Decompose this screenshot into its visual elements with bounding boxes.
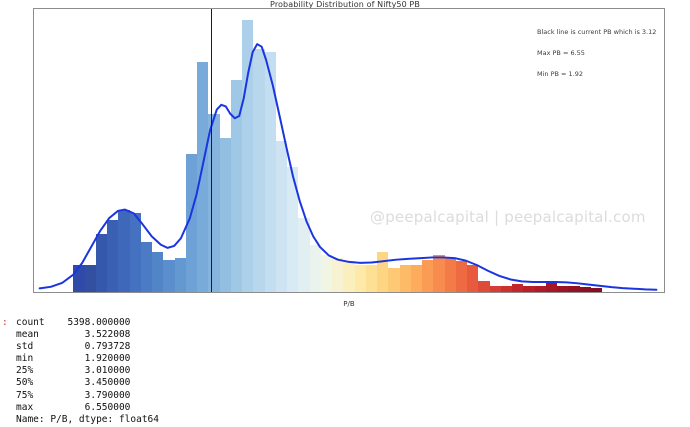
x-axis-label: P/B — [33, 300, 665, 308]
y-tick-mark — [33, 163, 34, 164]
watermark: @peepalcapital | peepalcapital.com — [370, 208, 646, 226]
describe-row: Name: P/B, dtype: float64 — [16, 414, 159, 426]
describe-output: : count 5398.000000mean 3.522008std 0.79… — [0, 317, 690, 427]
output-prompt: : — [2, 317, 8, 329]
y-tick-mark — [33, 227, 34, 228]
x-tick-mark — [534, 292, 535, 293]
matplotlib-figure: Probability Distribution of Nifty50 PB 0… — [0, 0, 690, 315]
y-tick-mark — [33, 34, 34, 35]
describe-row: 75% 3.790000 — [16, 390, 159, 402]
describe-rows: count 5398.000000mean 3.522008std 0.7937… — [16, 317, 159, 426]
x-tick-mark — [309, 292, 310, 293]
x-tick-mark — [647, 292, 648, 293]
describe-row: min 1.920000 — [16, 353, 159, 365]
describe-row: 50% 3.450000 — [16, 377, 159, 389]
annotation-line: Black line is current PB which is 3.12 — [537, 28, 656, 36]
describe-row: max 6.550000 — [16, 402, 159, 414]
y-tick-mark — [33, 99, 34, 100]
figure-output-cell: Probability Distribution of Nifty50 PB 0… — [0, 0, 690, 427]
annotation-line: Min PB = 1.92 — [537, 70, 656, 78]
describe-row: count 5398.000000 — [16, 317, 159, 329]
annotation-line: Max PB = 6.55 — [537, 49, 656, 57]
current-pb-vline — [211, 9, 212, 292]
x-tick-mark — [422, 292, 423, 293]
annotation-text-block: Black line is current PB which is 3.12Ma… — [537, 28, 656, 91]
x-tick-mark — [84, 292, 85, 293]
x-tick-mark — [197, 292, 198, 293]
y-tick-mark — [33, 292, 34, 293]
describe-row: std 0.793728 — [16, 341, 159, 353]
describe-row: 25% 3.010000 — [16, 365, 159, 377]
describe-row: mean 3.522008 — [16, 329, 159, 341]
